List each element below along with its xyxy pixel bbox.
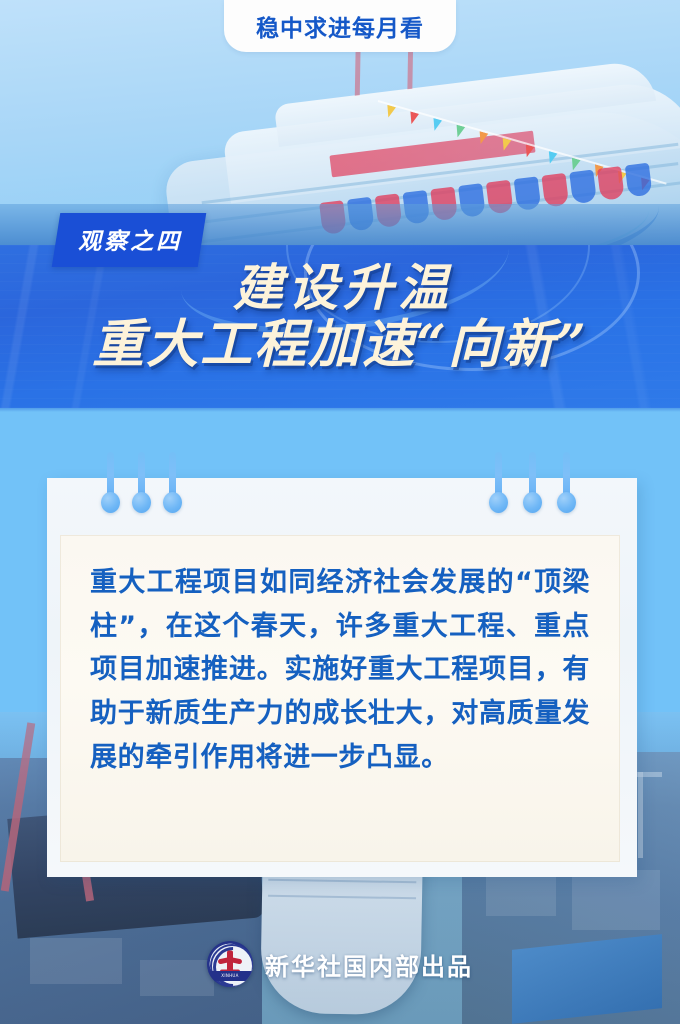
page-title-line1: 建设升温	[0, 262, 680, 314]
poster-root: 稳中求进每月看 观察之四 建设升温 重大工程加速“向新”	[0, 0, 680, 1024]
footer-label: 新华社国内部出品	[265, 947, 473, 982]
pin-head	[489, 492, 508, 513]
pin-head	[101, 492, 120, 513]
pin-head	[163, 492, 182, 513]
card-pin	[528, 452, 537, 518]
band-bottom-edge	[0, 408, 680, 412]
top-banner-pill: 稳中求进每月看	[224, 0, 456, 52]
top-banner-label: 稳中求进每月看	[256, 9, 424, 43]
card-pin	[168, 452, 177, 518]
pin-head	[523, 492, 542, 513]
card-pin	[137, 452, 146, 518]
logo-band-text: XINHUA	[207, 971, 253, 981]
card-body-text: 重大工程项目如同经济社会发展的“顶梁柱”，在这个春天，许多重大工程、重点项目加速…	[90, 561, 590, 780]
section-tag-label: 观察之四	[78, 222, 182, 256]
logo-band: XINHUA	[207, 971, 253, 981]
emblem-wing-right	[232, 957, 243, 964]
card-pin	[106, 452, 115, 518]
footer: XINHUA 新华社国内部出品	[0, 938, 680, 990]
content-card: 重大工程项目如同经济社会发展的“顶梁柱”，在这个春天，许多重大工程、重点项目加速…	[47, 478, 637, 877]
page-title-line2: 重大工程加速“向新”	[0, 318, 680, 372]
card-pin	[494, 452, 503, 518]
card-pin	[562, 452, 571, 518]
pin-head	[132, 492, 151, 513]
section-tag: 观察之四	[52, 213, 207, 267]
card-inner-panel: 重大工程项目如同经济社会发展的“顶梁柱”，在这个春天，许多重大工程、重点项目加速…	[60, 535, 620, 862]
page-title: 建设升温 重大工程加速“向新”	[0, 262, 680, 372]
xinhua-logo-icon: XINHUA	[207, 941, 253, 987]
card-pin-row	[47, 452, 637, 542]
pin-head	[557, 492, 576, 513]
